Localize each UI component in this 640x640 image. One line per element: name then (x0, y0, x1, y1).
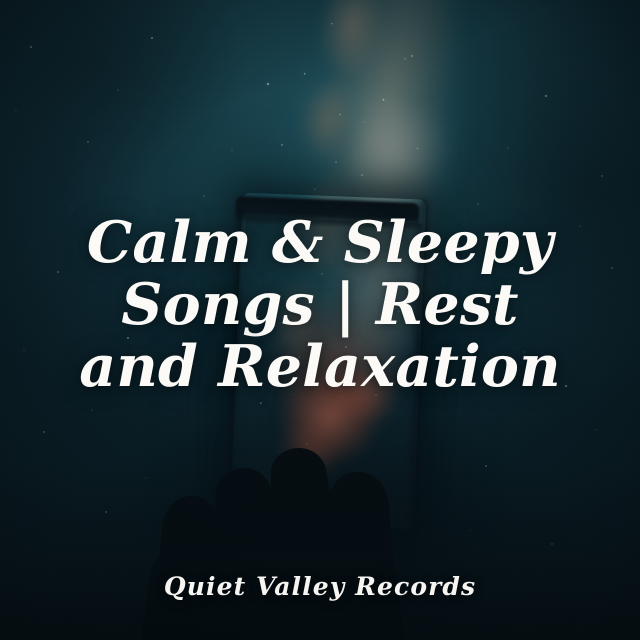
album-cover: Calm & Sleepy Songs | Rest and Relaxatio… (0, 0, 640, 640)
title-line-2: Songs | Rest (0, 274, 640, 336)
album-title: Calm & Sleepy Songs | Rest and Relaxatio… (0, 212, 640, 398)
title-line-1: Calm & Sleepy (0, 212, 640, 274)
record-label-text: Quiet Valley Records (164, 572, 476, 601)
record-label: Quiet Valley Records (0, 572, 640, 601)
title-line-3: and Relaxation (0, 336, 640, 398)
hand-silhouette (140, 440, 430, 640)
